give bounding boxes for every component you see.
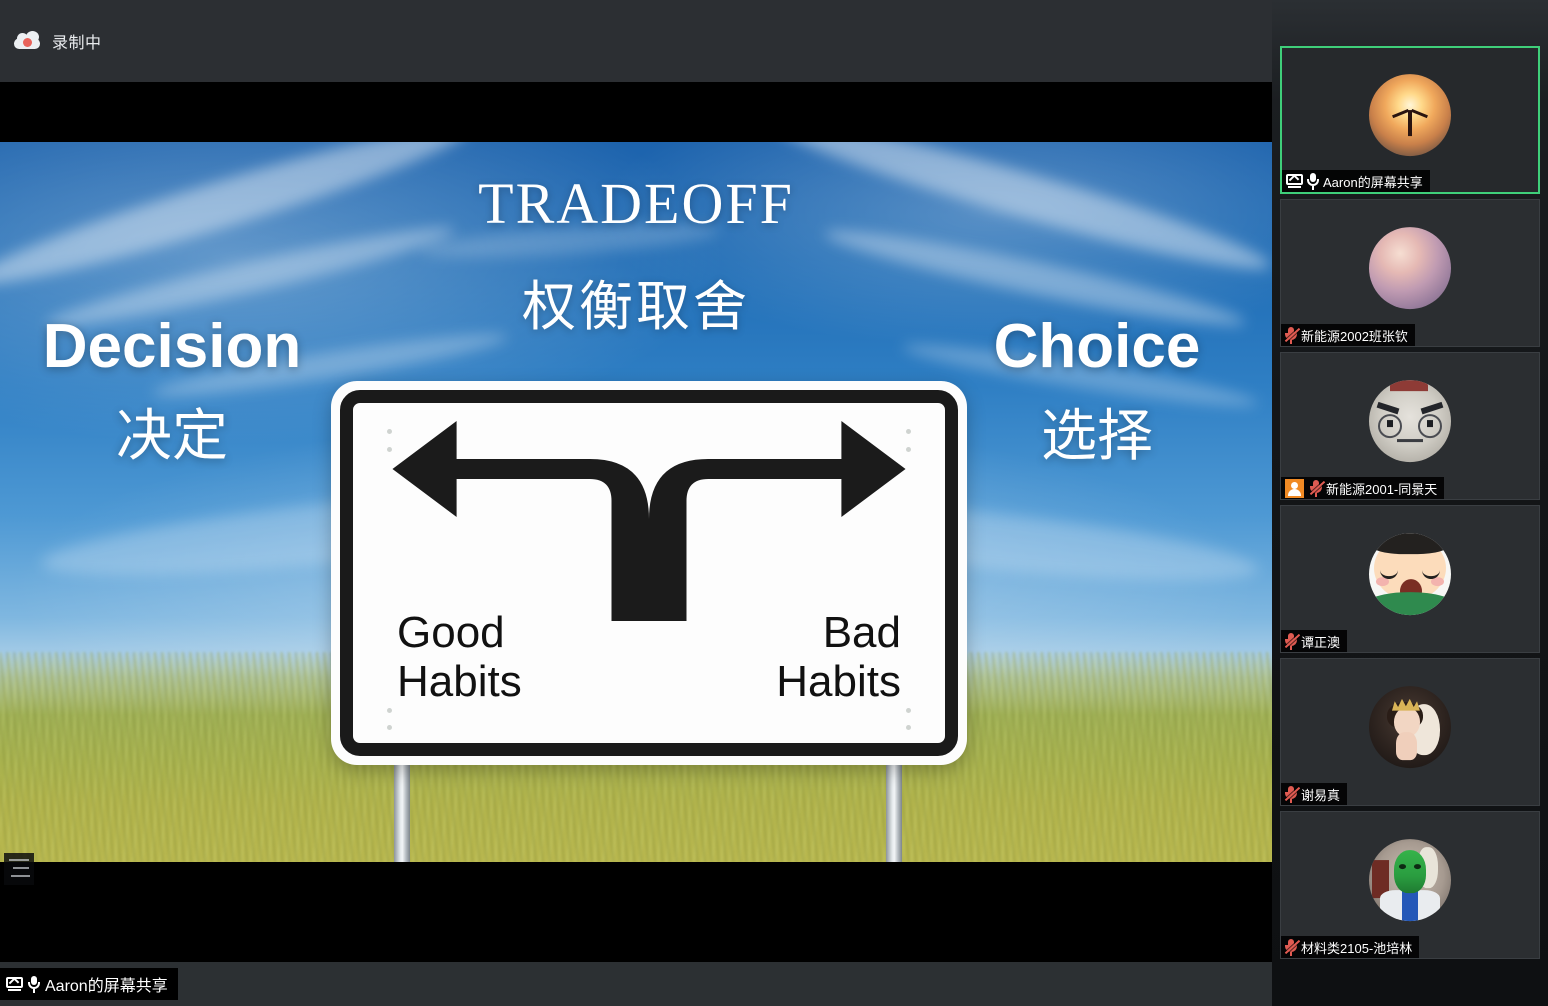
microphone-muted-icon xyxy=(1285,939,1297,956)
participant-name-chip: 谭正澳 xyxy=(1281,630,1347,652)
meeting-window: 录制中 TRADEOFF 权衡取舍 Decision 决定 Choice 选择 xyxy=(0,0,1548,1006)
participant-name-chip: 谢易真 xyxy=(1281,783,1347,805)
sign-left-label-line2: Habits xyxy=(397,657,522,706)
slide-left-word-en: Decision xyxy=(22,314,322,379)
slide-right-word-zh: 选择 xyxy=(952,407,1242,466)
microphone-muted-icon xyxy=(1310,480,1322,497)
participant-name-chip: 材料类2105-池培林 xyxy=(1281,936,1419,958)
slide-right-word-en: Choice xyxy=(952,314,1242,379)
participant-name: 新能源2001-同景天 xyxy=(1326,479,1437,498)
participant-name: 新能源2002班张钦 xyxy=(1301,326,1408,345)
participant-name: 材料类2105-池培林 xyxy=(1301,938,1412,957)
slide-left-word: Decision 决定 xyxy=(22,314,322,466)
avatar xyxy=(1369,380,1451,462)
slide-right-word: Choice 选择 xyxy=(952,314,1242,466)
sign-left-label: Good Habits xyxy=(397,608,522,707)
participant-name-chip: 新能源2001-同景天 xyxy=(1281,477,1444,499)
screen-share-icon xyxy=(1286,174,1303,188)
recording-label: 录制中 xyxy=(52,29,102,53)
road-sign: Good Habits Bad Habits xyxy=(331,381,967,765)
share-status-chip: Aaron的屏幕共享 xyxy=(0,968,178,1000)
avatar xyxy=(1369,74,1451,156)
participant-tile[interactable]: 材料类2105-池培林 xyxy=(1280,811,1540,959)
participant-name: 谭正澳 xyxy=(1301,632,1340,651)
microphone-icon xyxy=(28,976,40,993)
arrow-turn-right-icon xyxy=(649,421,906,621)
sign-arrows-group xyxy=(353,421,945,621)
participant-name-chip: Aaron的屏幕共享 xyxy=(1282,170,1430,192)
microphone-muted-icon xyxy=(1285,633,1297,650)
screen-share-icon xyxy=(6,977,23,991)
participant-tile[interactable]: 新能源2002班张钦 xyxy=(1280,199,1540,347)
host-badge-icon xyxy=(1285,479,1304,498)
participant-tile[interactable]: 谢易真 xyxy=(1280,658,1540,806)
sign-right-label-line1: Bad xyxy=(776,608,901,657)
arrow-turn-left-icon xyxy=(392,421,649,621)
microphone-muted-icon xyxy=(1285,786,1297,803)
slide-title: TRADEOFF xyxy=(0,170,1272,237)
presentation-slide: TRADEOFF 权衡取舍 Decision 决定 Choice 选择 xyxy=(0,142,1272,862)
share-status-label: Aaron的屏幕共享 xyxy=(45,972,168,996)
participant-rail[interactable]: Aaron的屏幕共享 新能源2002班张钦 xyxy=(1272,0,1548,1006)
sign-right-label: Bad Habits xyxy=(776,608,901,707)
participant-name: 谢易真 xyxy=(1301,785,1340,804)
microphone-icon xyxy=(1307,173,1319,190)
slide-notes-icon[interactable] xyxy=(4,853,34,885)
slide-left-word-zh: 决定 xyxy=(22,407,322,466)
participant-name-chip: 新能源2002班张钦 xyxy=(1281,324,1415,346)
avatar xyxy=(1369,227,1451,309)
sign-right-label-line2: Habits xyxy=(776,657,901,706)
cloud-record-icon xyxy=(14,32,40,50)
avatar xyxy=(1369,839,1451,921)
participant-tile[interactable]: 谭正澳 xyxy=(1280,505,1540,653)
participant-tile[interactable]: Aaron的屏幕共享 xyxy=(1280,46,1540,194)
sign-left-label-line1: Good xyxy=(397,608,522,657)
sign-post-right xyxy=(886,765,902,862)
sign-post-left xyxy=(394,765,410,862)
recording-bar: 录制中 xyxy=(0,0,1272,82)
avatar xyxy=(1369,533,1451,615)
microphone-muted-icon xyxy=(1285,327,1297,344)
bottom-status-bar: Aaron的屏幕共享 xyxy=(0,962,1272,1006)
avatar xyxy=(1369,686,1451,768)
participant-name: Aaron的屏幕共享 xyxy=(1323,172,1423,191)
shared-screen-stage[interactable]: TRADEOFF 权衡取舍 Decision 决定 Choice 选择 xyxy=(0,82,1272,962)
participant-tile[interactable]: 新能源2001-同景天 xyxy=(1280,352,1540,500)
